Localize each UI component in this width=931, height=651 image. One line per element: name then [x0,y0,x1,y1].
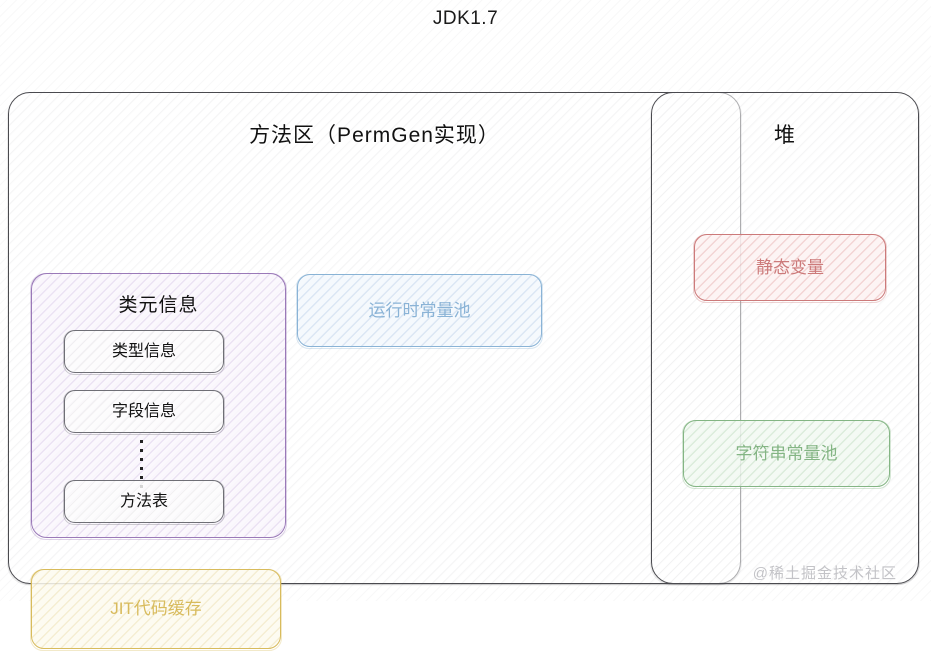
static-variables-box: 静态变量 [694,234,886,301]
watermark: @稀土掘金技术社区 [753,562,897,583]
method-table-box: 方法表 [64,480,224,523]
field-info-box: 字段信息 [64,390,224,433]
class-metadata-label: 类元信息 [32,290,285,317]
type-info-box: 类型信息 [64,330,224,373]
jit-code-cache-label: JIT代码缓存 [110,598,202,619]
page-title: JDK1.7 [0,8,931,30]
static-variables-label: 静态变量 [756,257,824,278]
class-metadata-box: 类元信息 类型信息 字段信息 方法表 [31,273,286,538]
jit-code-cache-box: JIT代码缓存 [31,569,281,649]
method-area-panel: 方法区（PermGen实现） 类元信息 类型信息 字段信息 方法表 运行时常量池… [8,92,741,584]
runtime-constant-pool-label: 运行时常量池 [369,300,471,321]
heap-panel: 堆 [651,92,919,584]
heap-heading: 堆 [652,119,918,149]
diagram-canvas: JDK1.7 方法区（PermGen实现） 类元信息 类型信息 字段信息 方法表… [0,0,931,601]
runtime-constant-pool-box: 运行时常量池 [297,274,542,347]
string-constant-pool-box: 字符串常量池 [683,420,890,487]
type-info-label: 类型信息 [112,342,176,362]
field-info-label: 字段信息 [112,402,176,422]
string-constant-pool-label: 字符串常量池 [736,443,838,464]
method-table-label: 方法表 [120,492,168,512]
method-area-heading: 方法区（PermGen实现） [9,119,740,149]
